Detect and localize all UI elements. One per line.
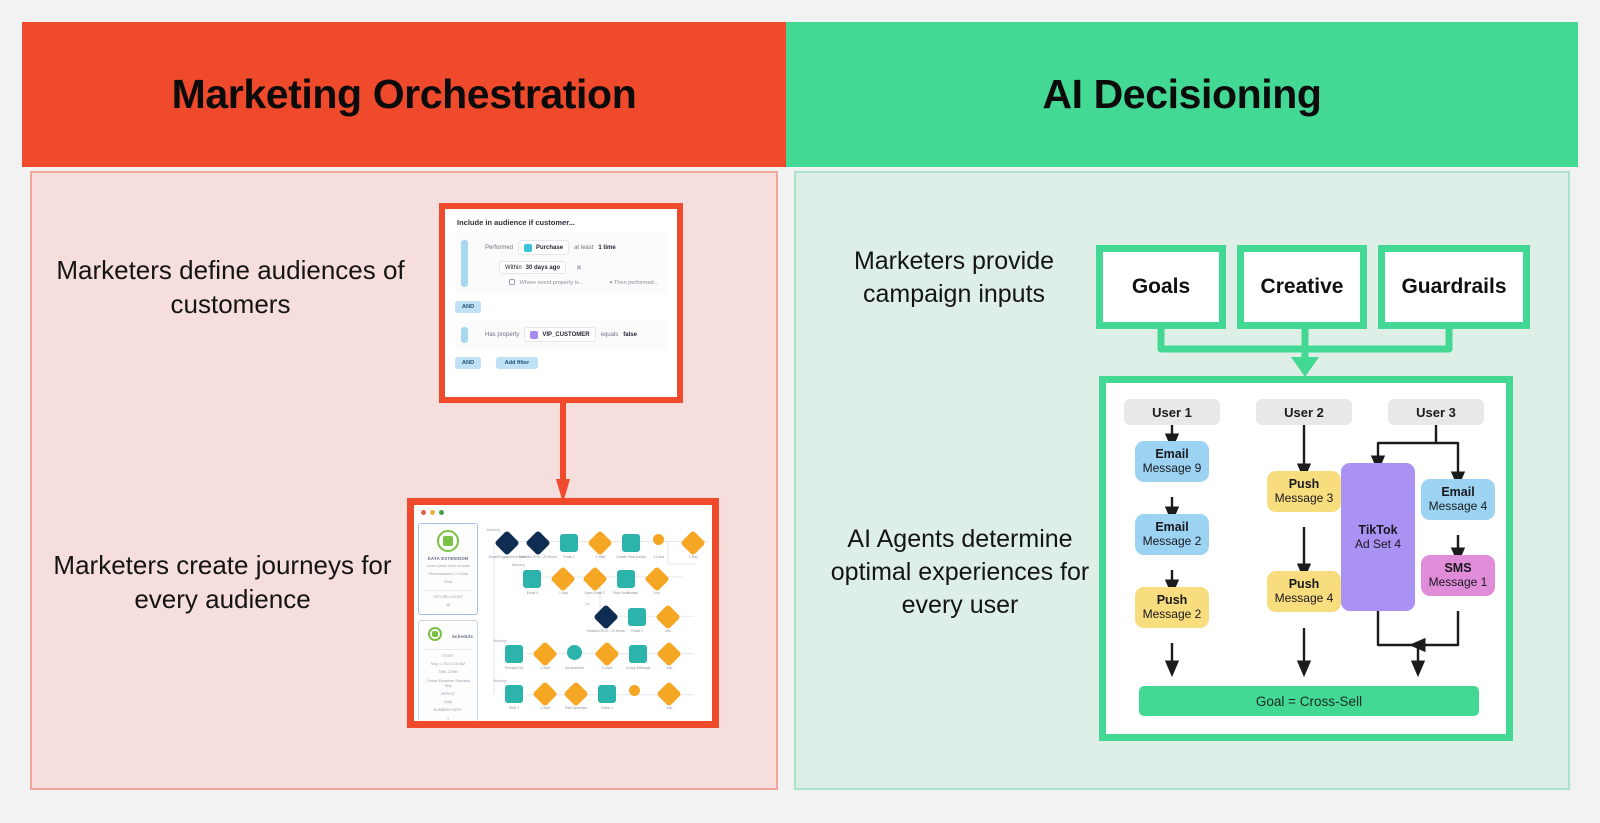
journey-node-shape xyxy=(598,685,616,703)
schedule-row-label-2: REPEAT xyxy=(423,692,473,697)
schedule-row-label-0: START xyxy=(423,654,473,659)
journey-node-shape xyxy=(644,566,669,591)
add-filter-button[interactable]: Add filter xyxy=(496,357,539,369)
page-title-left: Marketing Orchestration xyxy=(172,71,637,118)
journey-node-shape xyxy=(551,566,576,591)
journey-node-shape xyxy=(523,570,541,588)
node-message: Ad Set 4 xyxy=(1355,537,1401,551)
schedule-row-value-0: May 4, 2023 6:30 AM xyxy=(423,662,473,667)
rule-1-where-label: Where event property is... xyxy=(520,280,584,286)
property-icon xyxy=(530,331,538,339)
node-user3-sms[interactable]: SMS Message 1 xyxy=(1421,555,1495,596)
journey-flow-canvas[interactable]: MatchingEmail Engagement SplitEmailed 20… xyxy=(482,519,712,721)
divider xyxy=(425,649,471,650)
audience-rule-group-2: Has property VIP_CUSTOMER equals false xyxy=(455,320,667,350)
node-channel: Push xyxy=(1289,577,1320,591)
journey-node[interactable]: 1 Wait xyxy=(536,645,554,663)
journey-node-shape xyxy=(617,570,635,588)
data-extension-line-1: Lorem Ipsum dolor sit amet xyxy=(423,564,473,569)
rule-2-label: Has property xyxy=(485,332,519,338)
left-copy-define-audiences: Marketers define audiences of customers xyxy=(48,253,413,321)
marketing-orchestration-body: Marketers define audiences of customers … xyxy=(30,171,778,790)
plus-box-icon xyxy=(509,279,515,285)
journey-node[interactable]: 1 Day xyxy=(684,534,702,552)
goal-bar: Goal = Cross-Sell xyxy=(1139,686,1479,716)
right-copy-campaign-inputs: Marketers provide campaign inputs xyxy=(804,245,1104,311)
journey-node-shape xyxy=(657,681,682,706)
journey-node-shape xyxy=(567,645,582,660)
journey-node-shape xyxy=(505,685,523,703)
journey-node-label: Event 4 xyxy=(584,706,630,710)
audience-connector-2[interactable]: AND xyxy=(455,357,481,369)
node-message: Message 4 xyxy=(1429,499,1488,513)
journey-node[interactable]: Join xyxy=(648,570,666,588)
schedule-row-label-1: TIME ZONE xyxy=(423,670,473,675)
journey-node[interactable]: Open Email 2 xyxy=(586,570,604,588)
journey-node-shape xyxy=(629,685,640,696)
page-title-right: AI Decisioning xyxy=(1042,71,1321,118)
journey-data-extension-panel[interactable]: DATA EXTENSION Lorem Ipsum dolor sit ame… xyxy=(418,523,478,615)
node-user1-email-2[interactable]: Email Message 2 xyxy=(1135,514,1209,555)
rule-1-then-label: Then performed... xyxy=(614,280,658,286)
journey-canvas-screenshot: DATA EXTENSION Lorem Ipsum dolor sit ame… xyxy=(407,498,719,728)
journey-node-shape xyxy=(629,645,647,663)
divider xyxy=(425,590,471,591)
journey-sidebar: DATA EXTENSION Lorem Ipsum dolor sit ame… xyxy=(414,519,482,721)
left-copy-create-journeys: Marketers create journeys for every audi… xyxy=(40,548,405,616)
chevron-down-icon: ▾ xyxy=(610,280,613,286)
journey-branch-label: Matching xyxy=(512,563,525,567)
input-label-creative: Creative xyxy=(1261,275,1344,299)
journey-node-shape xyxy=(494,530,519,555)
input-box-creative[interactable]: Creative xyxy=(1237,245,1367,329)
journey-node[interactable]: Push Notification xyxy=(617,570,635,588)
node-user2-push-2[interactable]: Push Message 4 xyxy=(1267,571,1341,612)
journey-node-label: Join xyxy=(634,591,680,595)
rule-2-property-name: VIP_CUSTOMER xyxy=(542,332,589,338)
schedule-icon xyxy=(428,627,442,641)
node-message: Message 2 xyxy=(1143,607,1202,621)
down-arrow-icon xyxy=(556,401,570,503)
journey-node[interactable]: Email 1 xyxy=(560,534,578,552)
journey-node-shape xyxy=(582,566,607,591)
journey-schedule-panel[interactable]: Schedule START May 4, 2023 6:30 AM TIME … xyxy=(418,620,478,728)
node-channel: Email xyxy=(1441,485,1474,499)
user-chip-2[interactable]: User 2 xyxy=(1256,399,1352,425)
ai-decisioning-column: AI Decisioning Marketers provide campaig… xyxy=(786,22,1578,790)
rule-1-label: Performed xyxy=(485,245,513,251)
schedule-head: Schedule xyxy=(452,634,473,639)
rule-1-qualifier: at least xyxy=(574,245,593,251)
journey-node-shape xyxy=(655,604,680,629)
node-user1-push-1[interactable]: Push Message 2 xyxy=(1135,587,1209,628)
rule-1-time-value: 30 days ago xyxy=(526,265,560,271)
node-message: Message 2 xyxy=(1143,534,1202,548)
marketing-orchestration-header: Marketing Orchestration xyxy=(22,22,786,167)
record-count-value: 48 xyxy=(423,603,473,608)
journey-node-label: Join xyxy=(646,666,692,670)
user-chip-1[interactable]: User 1 xyxy=(1124,399,1220,425)
rule-1-event-name: Purchase xyxy=(536,245,563,251)
journey-node[interactable]: Email Engagement Split xyxy=(498,534,516,552)
close-icon[interactable]: ✕ xyxy=(576,264,582,272)
journey-node[interactable]: 5 Likes xyxy=(598,645,616,663)
node-message: Message 9 xyxy=(1143,461,1202,475)
journey-node-shape xyxy=(681,530,706,555)
node-user3-tiktok[interactable]: TikTok Ad Set 4 xyxy=(1341,463,1415,611)
rule-1-time-chip[interactable]: Within 30 days ago xyxy=(499,261,566,274)
input-box-goals[interactable]: Goals xyxy=(1096,245,1226,329)
journey-node-shape xyxy=(653,534,664,545)
rule-1-count: 1 time xyxy=(598,245,615,251)
red-dot-icon xyxy=(421,510,426,515)
data-extension-line-2: Personalization CX Data xyxy=(423,572,473,577)
journey-node[interactable]: Join xyxy=(659,608,677,626)
journey-node-shape xyxy=(505,645,523,663)
node-user1-email-1[interactable]: Email Message 9 xyxy=(1135,441,1209,482)
rule-1-event-chip[interactable]: Purchase xyxy=(518,240,569,255)
journey-branch-label: No xyxy=(586,602,590,606)
journey-node[interactable]: Emailed 2019 - 24 Hours xyxy=(597,608,615,626)
rule-2-value: false xyxy=(623,332,637,338)
user-1-label: User 1 xyxy=(1152,405,1192,420)
audience-rule-1-time-row: Within 30 days ago ✕ xyxy=(499,261,659,274)
journey-node-label: Join xyxy=(646,706,692,710)
journey-node[interactable]: Join xyxy=(660,645,678,663)
journey-node-shape xyxy=(594,642,619,667)
user-3-label: User 3 xyxy=(1416,405,1456,420)
rule-group-bar xyxy=(461,240,468,287)
journey-node-shape xyxy=(593,604,618,629)
journey-node[interactable]: SMS 1 xyxy=(505,685,523,703)
ai-decisioning-header: AI Decisioning xyxy=(786,22,1578,167)
data-extension-line-3: Feed xyxy=(423,580,473,585)
journey-node-shape xyxy=(532,681,557,706)
journey-branch-label: Matching xyxy=(494,679,507,683)
journey-branch-label: Matching xyxy=(494,639,507,643)
audience-rule-group-1: Performed Purchase at least 1 time Withi… xyxy=(455,233,667,294)
inputs-merge-connector xyxy=(1096,329,1514,377)
journey-node-shape xyxy=(622,534,640,552)
journey-node-shape xyxy=(657,642,682,667)
journey-node-shape xyxy=(628,608,646,626)
schedule-row-label-3: NUMBER EVERY xyxy=(423,708,473,713)
journey-node[interactable]: In-App Message xyxy=(629,645,647,663)
node-message: Message 3 xyxy=(1275,491,1334,505)
audience-builder-title: Include in audience if customer... xyxy=(445,209,677,233)
journey-node[interactable]: Email 3 xyxy=(628,608,646,626)
journey-node[interactable]: Join xyxy=(660,685,678,703)
node-channel: SMS xyxy=(1444,561,1471,575)
comparison-board: Marketing Orchestration Marketers define… xyxy=(22,22,1578,790)
journey-node[interactable]: Emailed 2019 - 24 Hours xyxy=(529,534,547,552)
green-dot-icon xyxy=(439,510,444,515)
audience-connector-1[interactable]: AND xyxy=(455,301,481,313)
journey-node[interactable]: Email 4 xyxy=(523,570,541,588)
record-count-label: RECORD COUNT xyxy=(423,595,473,600)
input-box-guardrails[interactable]: Guardrails xyxy=(1378,245,1530,329)
right-copy-ai-agents: AI Agents determine optimal experiences … xyxy=(810,523,1110,621)
journey-node-label: Join xyxy=(645,629,691,633)
journey-node-shape xyxy=(560,534,578,552)
node-message: Message 4 xyxy=(1275,591,1334,605)
node-user2-push-1[interactable]: Push Message 3 xyxy=(1267,471,1341,512)
node-channel: Email xyxy=(1155,447,1188,461)
event-icon xyxy=(524,244,532,252)
audience-rule-2-row: Has property VIP_CUSTOMER equals false xyxy=(485,327,659,342)
journey-branch-label: Matching xyxy=(487,528,500,532)
rule-2-property-chip[interactable]: VIP_CUSTOMER xyxy=(524,327,595,342)
schedule-row-value-3: 1 xyxy=(423,717,473,722)
journey-node-shape xyxy=(532,642,557,667)
node-channel: Push xyxy=(1289,477,1320,491)
node-user3-email[interactable]: Email Message 4 xyxy=(1421,479,1495,520)
rule-1-then-action[interactable]: ▾ Then performed... xyxy=(610,280,659,286)
journey-node[interactable]: Event 4 xyxy=(598,685,616,703)
rule-2-operator: equals xyxy=(601,332,619,338)
journey-node[interactable]: 4 Likes xyxy=(653,534,664,545)
yellow-dot-icon xyxy=(430,510,435,515)
journey-node[interactable] xyxy=(629,685,640,696)
journey-node[interactable]: Primary Key xyxy=(505,645,523,663)
input-label-goals: Goals xyxy=(1132,275,1190,299)
goal-label: Goal = Cross-Sell xyxy=(1256,694,1362,709)
node-channel: Email xyxy=(1155,520,1188,534)
journey-node-shape xyxy=(525,530,550,555)
schedule-row-label-4: END xyxy=(423,725,473,728)
ai-decision-tree-card: User 1 User 2 User 3 xyxy=(1099,376,1513,741)
journey-node[interactable]: 1 Wait xyxy=(591,534,609,552)
schedule-row-value-1: Central European Standard Time xyxy=(423,679,473,689)
journey-node-shape xyxy=(588,530,613,555)
input-label-guardrails: Guardrails xyxy=(1401,275,1506,299)
campaign-inputs-row: Goals Creative Guardrails xyxy=(1096,245,1530,329)
journey-node-shape xyxy=(563,681,588,706)
schedule-row-value-2: Daily xyxy=(423,700,473,705)
marketing-orchestration-column: Marketing Orchestration Marketers define… xyxy=(22,22,786,790)
rule-1-time-label: Within xyxy=(505,265,522,271)
audience-rule-1-row: Performed Purchase at least 1 time xyxy=(485,240,659,255)
node-channel: Push xyxy=(1157,593,1188,607)
journey-window-titlebar xyxy=(414,505,712,519)
journey-node-label: 1 Day xyxy=(670,555,716,559)
journey-node[interactable]: 1 Wait xyxy=(536,685,554,703)
journey-node[interactable]: 1 Day xyxy=(554,570,572,588)
journey-node[interactable]: Path Optimizer xyxy=(567,685,585,703)
journey-node[interactable]: Ad Audience xyxy=(567,645,582,660)
ai-decisioning-body: Marketers provide campaign inputs AI Age… xyxy=(794,171,1570,790)
data-extension-head: DATA EXTENSION xyxy=(423,556,473,561)
rule-1-where-action[interactable]: Where event property is... xyxy=(509,279,584,286)
user-2-label: User 2 xyxy=(1284,405,1324,420)
audience-rule-1-subactions: Where event property is... ▾ Then perfor… xyxy=(509,279,659,286)
rule-group-bar xyxy=(461,327,468,343)
journey-node[interactable]: Create Task Activity xyxy=(622,534,640,552)
node-message: Message 1 xyxy=(1429,575,1488,589)
node-channel: TikTok xyxy=(1358,523,1397,537)
audience-builder-screenshot: Include in audience if customer... Perfo… xyxy=(439,203,683,403)
data-extension-icon xyxy=(437,530,459,552)
user-chip-3[interactable]: User 3 xyxy=(1388,399,1484,425)
